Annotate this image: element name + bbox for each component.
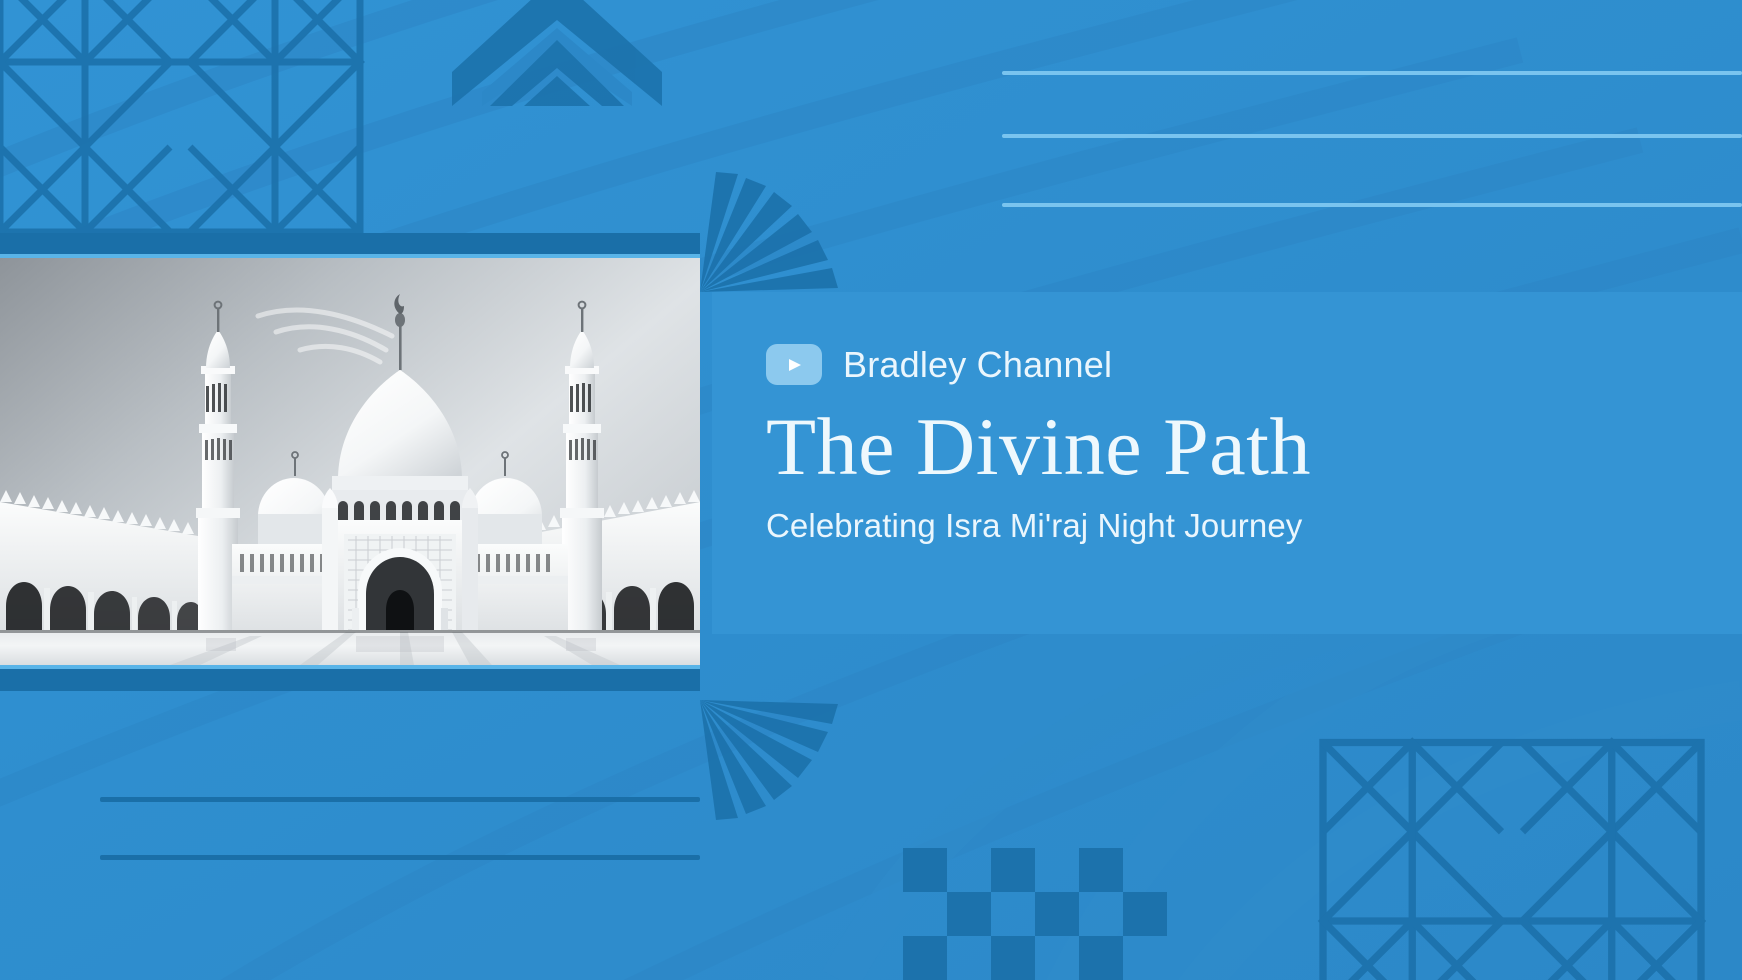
title-panel: Bradley Channel The Divine Path Celebrat… (712, 292, 1742, 634)
radial-fan-bottom (700, 700, 840, 822)
mosque-courtyard-photo (0, 258, 700, 665)
radial-fan-top (700, 170, 840, 292)
accent-rule-5 (100, 855, 700, 860)
photo-frame-top-band (0, 233, 700, 256)
youtube-play-icon[interactable] (766, 344, 822, 385)
chevron-pattern-top (452, 0, 662, 106)
page-subtitle: Celebrating Isra Mi'raj Night Journey (766, 507, 1702, 545)
photo-frame-bottom-band (0, 668, 700, 691)
page-title: The Divine Path (766, 407, 1702, 487)
accent-rule-2 (1002, 134, 1742, 138)
accent-rule-3 (1002, 203, 1742, 207)
accent-rule-4 (100, 797, 700, 802)
geometric-lattice-bottom-right (1252, 690, 1742, 980)
accent-rule-1 (1002, 71, 1742, 75)
thumbnail-canvas: Bradley Channel The Divine Path Celebrat… (0, 0, 1742, 980)
checkerboard-pattern (903, 848, 1167, 980)
channel-row: Bradley Channel (766, 344, 1702, 385)
channel-name: Bradley Channel (843, 347, 1112, 383)
